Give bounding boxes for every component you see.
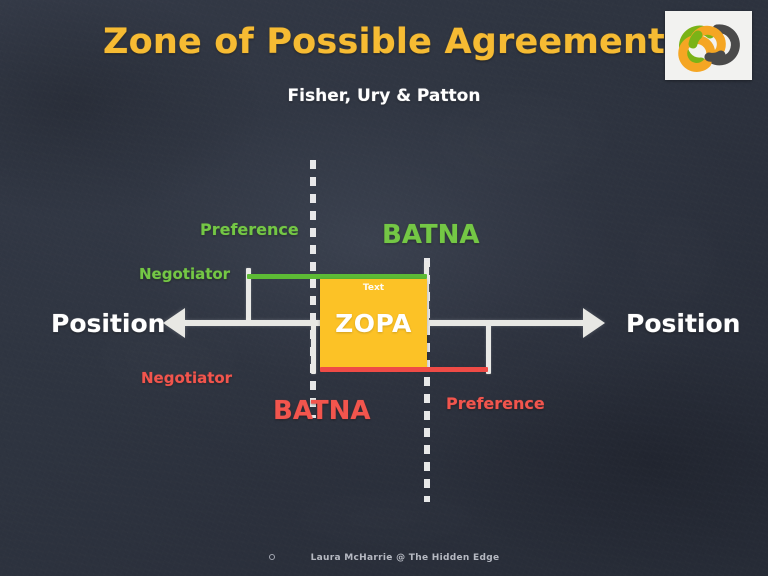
- label-green-batna: BATNA: [382, 220, 480, 250]
- dashed-line-left-boundary: [310, 160, 316, 418]
- tick-red-negotiator-batna: [311, 322, 316, 374]
- logo-card: [665, 11, 752, 80]
- slide-canvas: Zone of Possible Agreement Fisher, Ury &…: [0, 0, 768, 576]
- interlocking-rings-icon: [665, 11, 752, 80]
- label-green-negotiator: Negotiator: [139, 265, 230, 283]
- label-red-negotiator: Negotiator: [141, 369, 232, 387]
- label-position-right: Position: [626, 309, 740, 338]
- footer-bullet-icon: [269, 554, 275, 560]
- zopa-label: ZOPA: [320, 309, 427, 338]
- zopa-box[interactable]: Text ZOPA: [320, 279, 427, 369]
- red-negotiator-range-line: [320, 367, 488, 372]
- label-red-batna: BATNA: [273, 396, 371, 426]
- label-red-preference: Preference: [446, 394, 545, 413]
- label-position-left: Position: [51, 309, 165, 338]
- footer-credit-text: Laura McHarrie @ The Hidden Edge: [311, 553, 500, 563]
- page-title: Zone of Possible Agreement: [0, 22, 768, 62]
- arrow-right-icon: [583, 308, 605, 338]
- footer: Laura McHarrie @ The Hidden Edge: [0, 553, 768, 563]
- label-green-preference: Preference: [200, 220, 299, 239]
- page-subtitle: Fisher, Ury & Patton: [0, 86, 768, 106]
- arrow-left-icon: [163, 308, 185, 338]
- zopa-inner-text-label: Text: [320, 283, 427, 293]
